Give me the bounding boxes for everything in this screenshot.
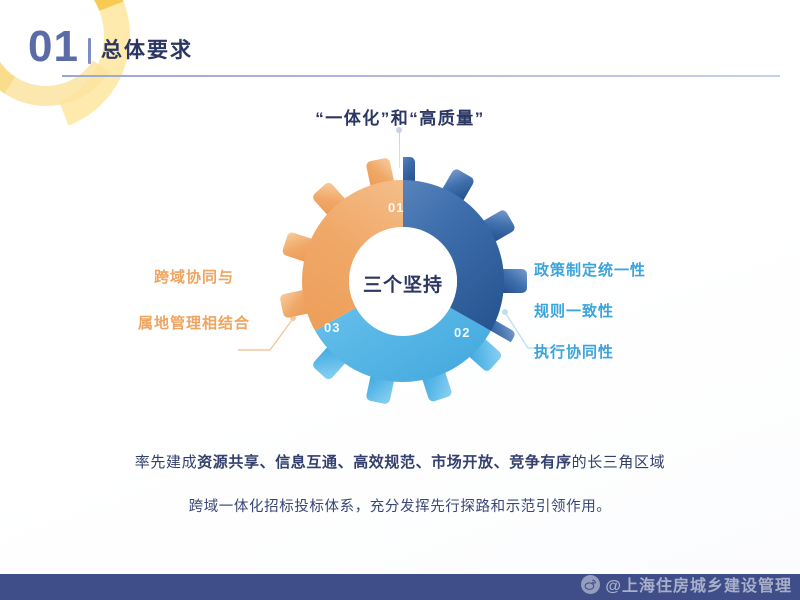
gear-segment-label-03: 03 [324,320,340,335]
bottom-text-line-2: 跨域一体化招标投标体系，充分发挥先行探路和示范引领作用。 [60,492,740,522]
page-title: 总体要求 [101,34,193,68]
header-divider [62,75,780,77]
right-label-line-3: 执行协同性 [534,332,744,373]
top-caption: “一体化”和“高质量” [0,104,800,129]
right-label-line-2: 规则一致性 [534,291,744,332]
bottom-line1-emphasis: 资源共享、信息互通、高效规范、市场开放、竞争有序 [197,454,571,471]
weibo-icon [581,575,600,594]
right-label-group: 政策制定统一性 规则一致性 执行协同性 [534,250,744,373]
left-label-group: 跨域协同与 属地管理相结合 [104,255,284,347]
section-number: 01 [28,26,79,68]
slide-root: 01 总体要求 “一体化”和“高质量” [0,0,800,600]
left-label-line-2: 属地管理相结合 [104,301,284,347]
watermark: @上海住房城乡建设管理 [581,572,792,596]
watermark-text: @上海住房城乡建设管理 [605,572,792,596]
gear-center-circle: 三个坚持 [350,230,456,336]
gear-segment-label-01: 01 [388,200,404,215]
gear-center-label: 三个坚持 [363,270,443,297]
bottom-text-block: 率先建成资源共享、信息互通、高效规范、市场开放、竞争有序的长三角区域 跨域一体化… [60,448,740,522]
bottom-text-line-1: 率先建成资源共享、信息互通、高效规范、市场开放、竞争有序的长三角区域 [60,448,740,478]
gear-segment-label-02: 02 [454,325,470,340]
right-label-line-1: 政策制定统一性 [534,250,744,291]
bottom-line1-prefix: 率先建成 [135,454,197,471]
gear-diagram: 01 02 03 三个坚持 [272,150,534,412]
left-label-line-1: 跨域协同与 [104,255,284,301]
slide-header: 01 总体要求 [28,26,193,68]
bottom-line1-suffix: 的长三角区域 [572,454,666,471]
header-separator [88,38,91,64]
